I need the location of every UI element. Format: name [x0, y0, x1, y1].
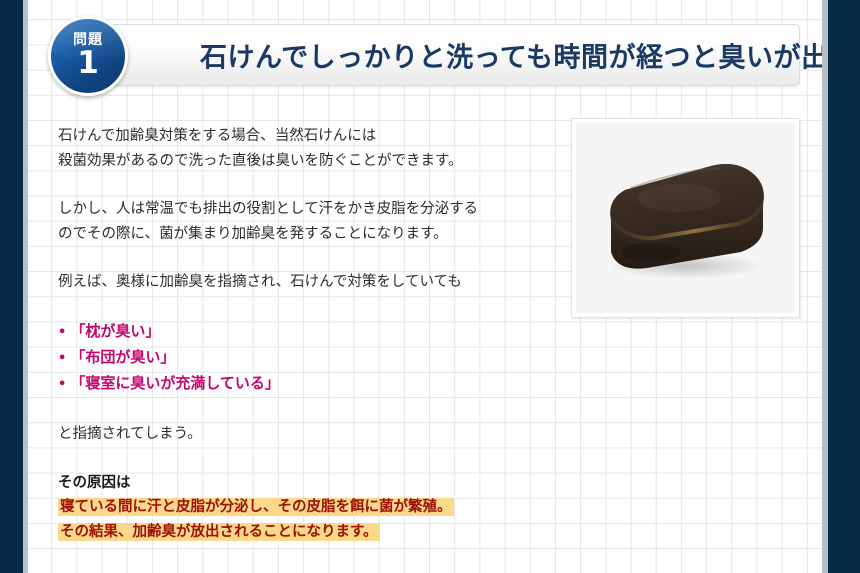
- paragraph-2: しかし、人は常温でも排出の役割として汗をかき皮脂を分泌する のでその際に、菌が集…: [58, 197, 558, 246]
- article-body: 石けんで加齢臭対策をする場合、当然石けんには 殺菌効果があるので洗った直後は臭い…: [58, 124, 558, 545]
- highlighted-line-2: その結果、加齢臭が放出されることになります。: [58, 520, 380, 545]
- cause-heading: その原因は: [58, 471, 558, 495]
- list-item: 「寝室に臭いが充満している」: [58, 371, 558, 397]
- page-root: 石けんでしっかりと洗っても時間が経つと臭いが出る 問題 1 石けんで加齢臭対策を…: [0, 0, 860, 573]
- frame-right-band: [828, 0, 860, 573]
- list-item: 「布団が臭い」: [58, 345, 558, 371]
- soap-photo-panel: [571, 118, 800, 318]
- frame-left-band: [0, 0, 23, 573]
- question-number-badge: 問題 1: [48, 16, 128, 96]
- frame-left-gutter: [23, 0, 28, 573]
- list-item: 「枕が臭い」: [58, 319, 558, 345]
- highlighted-line-1: 寝ている間に汗と皮脂が分泌し、その皮脂を餌に菌が繁殖。: [58, 495, 454, 520]
- highlight-text: その結果、加齢臭が放出されることになります。: [58, 523, 380, 541]
- highlight-text: 寝ている間に汗と皮脂が分泌し、その皮脂を餌に菌が繁殖。: [58, 498, 454, 516]
- page-title: 石けんでしっかりと洗っても時間が経つと臭いが出る: [200, 36, 856, 75]
- soap-bar-icon: [576, 123, 795, 313]
- question-header: 石けんでしっかりと洗っても時間が経つと臭いが出る 問題 1: [28, 16, 822, 96]
- badge-number: 1: [77, 48, 99, 79]
- closing-sentence: と指摘されてしまう。: [58, 422, 558, 447]
- paragraph-1: 石けんで加齢臭対策をする場合、当然石けんには 殺菌効果があるので洗った直後は臭い…: [58, 124, 558, 173]
- paragraph-3: 例えば、奥様に加齢臭を指摘され、石けんで対策をしていても: [58, 270, 558, 295]
- cause-block: その原因は 寝ている間に汗と皮脂が分泌し、その皮脂を餌に菌が繁殖。 その結果、加…: [58, 471, 558, 545]
- symptom-list: 「枕が臭い」 「布団が臭い」 「寝室に臭いが充満している」: [58, 319, 558, 397]
- frame-right-gutter: [822, 0, 828, 573]
- question-title-bar: 石けんでしっかりと洗っても時間が経つと臭いが出る: [81, 24, 800, 86]
